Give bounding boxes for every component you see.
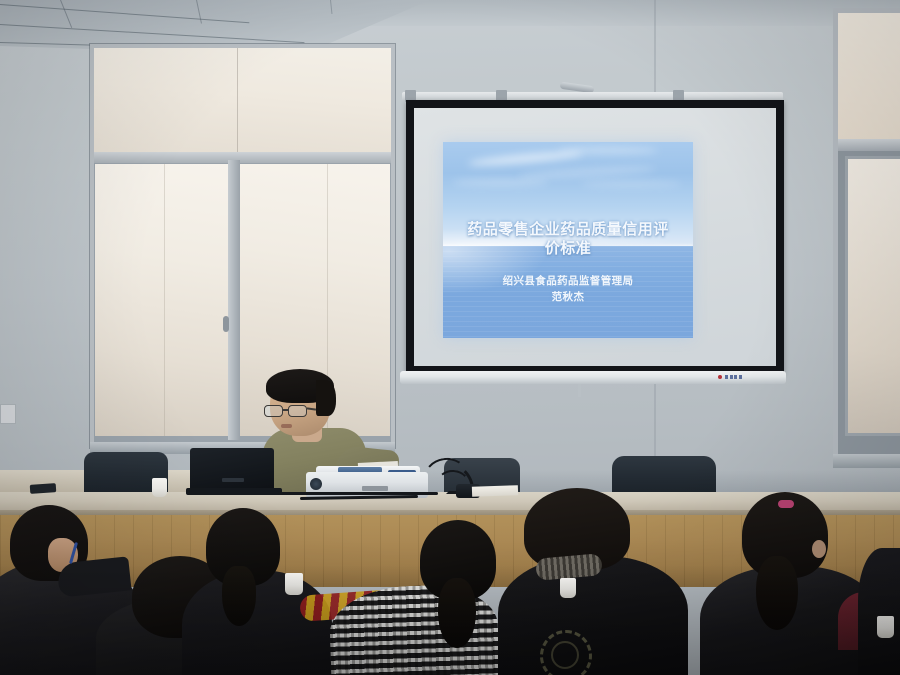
screen-bar-drop <box>578 384 581 397</box>
slide-subtitle: 绍兴县食品药品监督管理局 范秋杰 <box>503 274 634 306</box>
slide-organization: 绍兴县食品药品监督管理局 <box>503 274 634 290</box>
presenter-hair-side <box>316 380 336 416</box>
glasses-icon <box>264 405 312 417</box>
ceiling-grid-line <box>330 0 332 14</box>
window-sill <box>833 454 900 468</box>
hair-tie <box>778 500 794 508</box>
slide-title-line-1: 药品零售企业药品质量信用评 <box>456 220 681 239</box>
paper-on-desk <box>472 485 518 497</box>
window-frame <box>90 44 395 448</box>
laptop-base <box>186 488 282 495</box>
ceiling-grid-line <box>0 4 249 23</box>
attendee-ponytail <box>222 566 256 626</box>
ceiling-grid-line <box>196 0 202 24</box>
slide-presenter-name: 范秋杰 <box>503 290 634 306</box>
slide-title-line-2: 价标准 <box>456 239 681 258</box>
window-right <box>833 8 900 468</box>
screen-brand-logo <box>718 375 742 379</box>
paper-cup[interactable] <box>152 478 167 497</box>
attendee-body <box>858 548 900 675</box>
jacket-emblem-inner <box>551 641 579 669</box>
slide-text-block: 药品零售企业药品质量信用评 价标准 绍兴县食品药品监督管理局 范秋杰 <box>443 142 693 338</box>
attendee-body <box>182 570 332 675</box>
presenter-mouth <box>281 424 292 428</box>
paper-cup[interactable] <box>877 616 894 638</box>
slide-title: 药品零售企业药品质量信用评 价标准 <box>456 220 681 258</box>
window-frame <box>833 8 900 468</box>
attendee-ponytail <box>756 556 798 630</box>
screen-brand-dot <box>718 375 722 379</box>
paper-cup[interactable] <box>285 573 303 595</box>
paper-cup[interactable] <box>560 578 576 598</box>
projector-label <box>362 486 388 491</box>
window-left <box>90 44 395 448</box>
attendee-ponytail <box>438 578 476 648</box>
phone-on-desk[interactable] <box>30 483 57 494</box>
wall-socket-plate <box>0 404 16 424</box>
projected-slide: 药品零售企业药品质量信用评 价标准 绍兴县食品药品监督管理局 范秋杰 <box>443 142 693 338</box>
projector-lens <box>310 478 322 490</box>
attendee-ear <box>812 540 826 558</box>
conference-room-photo: 药品零售企业药品质量信用评 价标准 绍兴县食品药品监督管理局 范秋杰 <box>0 0 900 675</box>
ceiling-grid-line <box>60 0 72 28</box>
screen-brand-bars <box>725 375 742 379</box>
laptop-logo <box>222 478 244 482</box>
ceiling-grid-line <box>0 24 304 43</box>
